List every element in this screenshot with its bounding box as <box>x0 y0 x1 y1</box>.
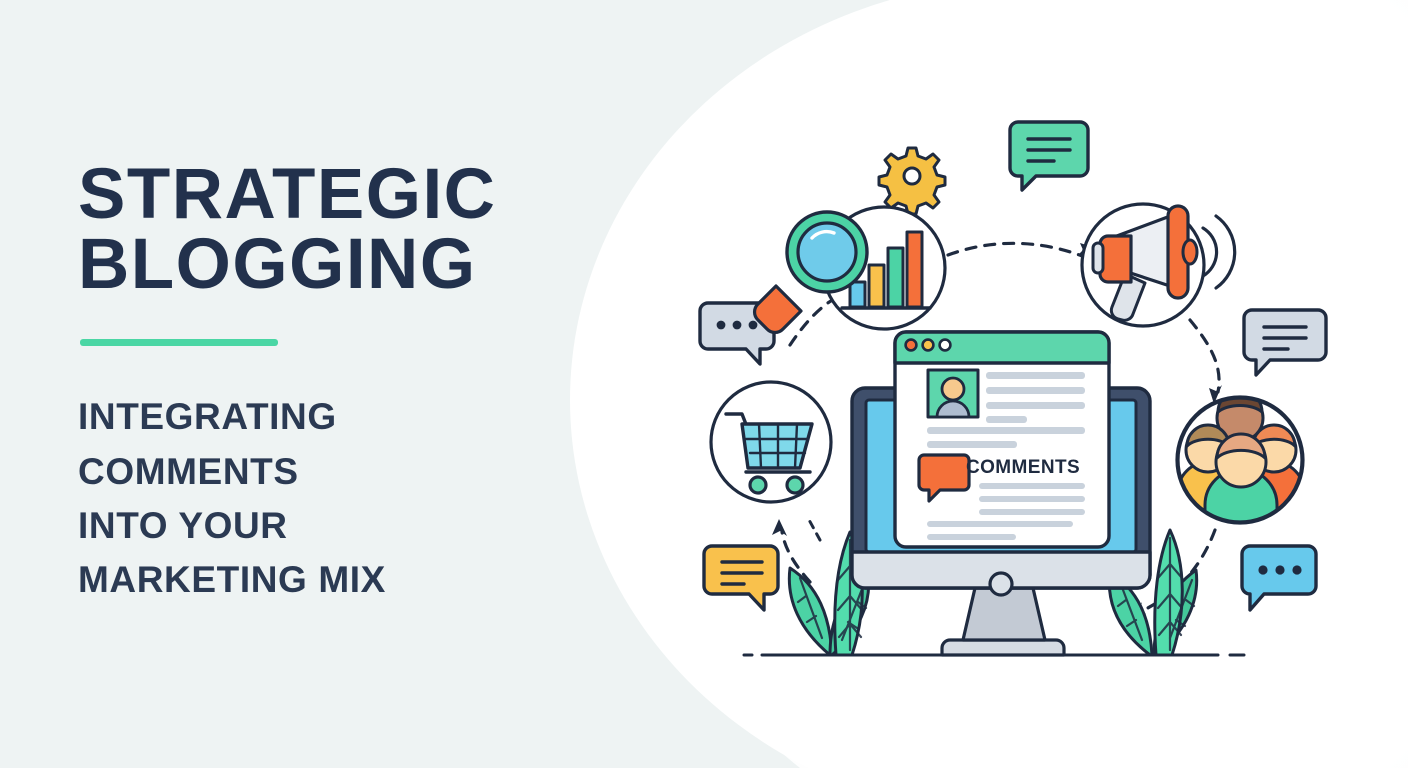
chat-bubble-yellow <box>704 546 778 610</box>
chat-bubble-green <box>1010 122 1088 190</box>
browser-window <box>895 332 1109 547</box>
illustration <box>0 0 1408 768</box>
desktop-monitor <box>852 332 1150 655</box>
window-dot-minimize <box>923 340 934 351</box>
gear-icon <box>879 148 945 214</box>
analytics-search-icon <box>755 207 945 332</box>
megaphone-icon <box>1082 204 1235 326</box>
dashed-arrow-chart-to-megaphone <box>948 243 1082 256</box>
chat-bubble-blue-dots <box>1242 546 1316 610</box>
community-icon <box>1177 390 1304 555</box>
dashed-arrow-megaphone-to-community <box>1190 320 1219 392</box>
banner-canvas: STRATEGICBLOGGING INTEGRATINGCOMMENTSINT… <box>0 0 1408 768</box>
window-dot-maximize <box>940 340 951 351</box>
chat-bubble-gray-lines <box>1244 310 1326 375</box>
comments-label: COMMENTS <box>966 457 1080 479</box>
avatar <box>928 370 978 417</box>
window-dot-close <box>906 340 917 351</box>
shopping-cart-icon <box>711 382 831 502</box>
